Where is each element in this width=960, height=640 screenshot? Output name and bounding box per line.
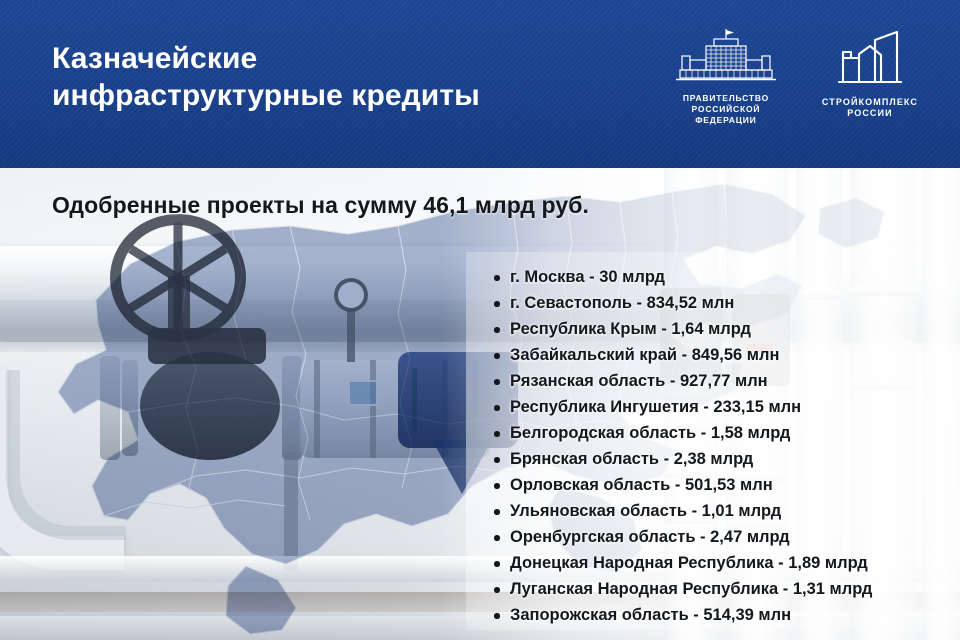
list-item: Республика Крым - 1,64 млрд [492,316,952,342]
approved-projects-list: г. Москва - 30 млрдг. Севастополь - 834,… [492,264,952,628]
list-item: г. Москва - 30 млрд [492,264,952,290]
list-item: Республика Ингушетия - 233,15 млн [492,394,952,420]
list-item: г. Севастополь - 834,52 млн [492,290,952,316]
page-title: Казначейские инфраструктурные кредиты [52,40,480,114]
list-item: Забайкальский край - 849,56 млн [492,342,952,368]
list-item: Брянская область - 2,38 млрд [492,446,952,472]
government-building-icon [676,28,776,87]
subtitle: Одобренные проекты на сумму 46,1 млрд ру… [52,192,589,219]
header-bar: Казначейские инфраструктурные кредиты [0,0,960,168]
list-item: Запорожская область - 514,39 млн [492,602,952,628]
list-item: Ульяновская область - 1,01 млрд [492,498,952,524]
list-item: Луганская Народная Республика - 1,31 млр… [492,576,952,602]
logo-group: ПРАВИТЕЛЬСТВО РОССИЙСКОЙ ФЕДЕРАЦИИ [676,28,918,126]
list-item: Белгородская область - 1,58 млрд [492,420,952,446]
stroykompleks-logo-label: СТРОЙКОМПЛЕКС РОССИИ [822,97,918,119]
list-item: Оренбургская область - 2,47 млрд [492,524,952,550]
buildings-outline-icon [837,28,903,91]
stroykompleks-logo: СТРОЙКОМПЛЕКС РОССИИ [822,28,918,119]
infographic-poster: Казначейские инфраструктурные кредиты [0,0,960,640]
government-logo: ПРАВИТЕЛЬСТВО РОССИЙСКОЙ ФЕДЕРАЦИИ [676,28,776,126]
list-item: Донецкая Народная Республика - 1,89 млрд [492,550,952,576]
list-item: Рязанская область - 927,77 млн [492,368,952,394]
list-item: Орловская область - 501,53 млн [492,472,952,498]
government-logo-label: ПРАВИТЕЛЬСТВО РОССИЙСКОЙ ФЕДЕРАЦИИ [683,93,769,126]
